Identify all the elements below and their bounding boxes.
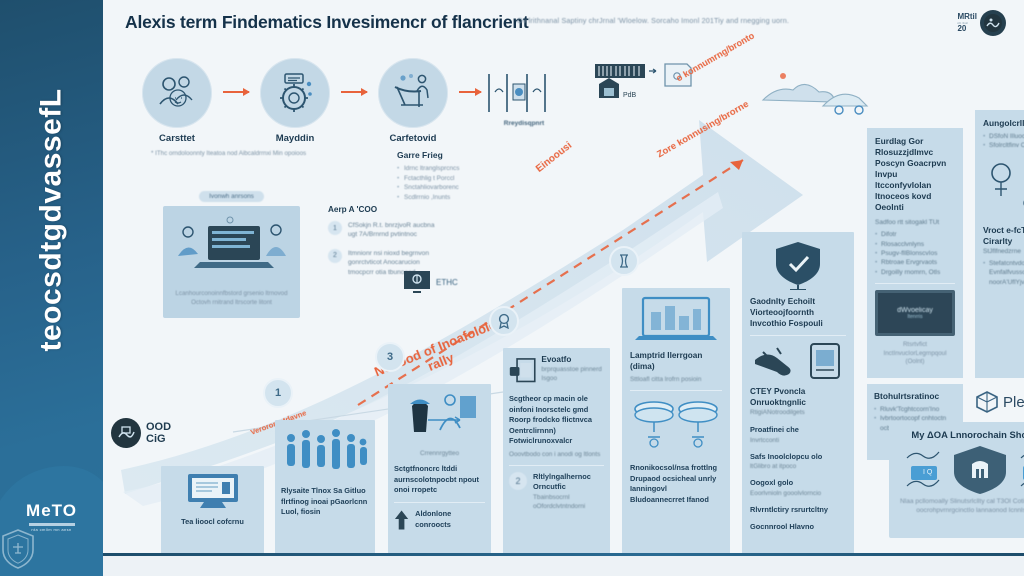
stair-panel-3-title: Sctgtfnoncrc ltddi aurnscolotnpocbt npou…	[394, 464, 485, 496]
stair-panel-6-row-sub: Eoorlvnioln gooolvlorncio	[750, 489, 846, 498]
stair-panel-4-badge-title: Rltlylngalhernoc Orncutfic	[533, 472, 604, 493]
diagonal-stream-label: o konnumrng/bronto	[674, 31, 756, 84]
stair-badge-1: 1	[263, 378, 293, 408]
chalkboard-sub: Itenrris	[907, 314, 922, 320]
stair-panel-4-divider	[509, 465, 604, 466]
left-card-caption: Lcanhourconoinnfbstord grsenio ltrnovod …	[172, 290, 292, 307]
numbered-item-badge: 1	[328, 221, 342, 235]
stair-panel-4-heading-sub: brprquasstoe pinnerd Isgoo	[541, 365, 604, 383]
stair-panel-2[interactable]: Rlysaite Tlnox Sa Gitluo flrtfinog inoai…	[275, 420, 375, 556]
poster-canvas: Alexis term Findematics Invesimencr of f…	[103, 0, 1024, 576]
hourglass-icon	[616, 253, 632, 269]
svg-text:PdB: PdB	[623, 92, 637, 99]
ethc-chip-label: ETHC	[436, 278, 458, 287]
stair-panel-6-row-title: Oogoxl golo	[750, 478, 846, 489]
right-col-1-note: Sadfoo rtt sitogakl TUt	[875, 218, 955, 227]
people-pair-icon	[142, 58, 212, 128]
stair-panel-4-heading: Evoatfo	[541, 354, 604, 365]
garre-item: Scdlrrnio ,Inunts	[397, 193, 517, 203]
page-subtitle: Ov lrithnanal Saptiny chrJrnal 'Wloelow.…	[517, 16, 789, 25]
diagonal-rise-label: Einoousi	[534, 140, 574, 175]
right-col-2-sub-bullet: Stefatcntvdocrnllot Evnfalfvussoonic noo…	[983, 259, 1024, 287]
right-col-2-subnote: StJflfnedzrne	[983, 247, 1024, 256]
bottom-right-panel[interactable]: My ΔOA Lnnorochain Shoches I Q	[889, 422, 1024, 538]
right-col-1-heading: Eurdlag Gor Rlosuzzjdlmvc Poscyn Goacrpv…	[875, 136, 955, 213]
award-icon	[496, 313, 512, 329]
ethc-chip: ETHC	[403, 270, 458, 294]
stair-panel-4-badge-sub: Tbainbsocrnl oOfordclvtntndorni	[533, 493, 604, 511]
people-group-icon	[281, 426, 371, 480]
right-col-1-bullet: Rbtroae Ervgrvaots	[875, 258, 955, 267]
worker-pair-icon	[398, 390, 482, 438]
infographic-poster: teocsdtgdvassefL MeTO nta cmlim mn ansn	[0, 0, 1024, 576]
shield-crest-icon	[0, 528, 36, 570]
stair-panel-6-row-sub: Invrtcconti	[750, 436, 846, 445]
stair-panel-4-badge-num: 2	[509, 472, 527, 490]
coin-stack-icon	[630, 397, 722, 455]
upload-arrow-icon	[394, 509, 409, 531]
chalkboard-title: dWvoelicay	[897, 307, 933, 314]
stair-panel-3-pill: Crrennrgytteo	[420, 450, 459, 457]
stair-panel-4-note: Ooovtbodo con i anodi og ltlonts	[509, 450, 604, 459]
header: Alexis term Findematics Invesimencr of f…	[125, 12, 1006, 33]
garre-item: Fctacthlig t Porccl	[397, 174, 517, 184]
network-nodes-icon	[481, 70, 561, 116]
stair-panel-6-row-title: Rlvrntlctiry rsrurtcltny	[750, 505, 846, 516]
person-desk-icon	[378, 58, 448, 128]
tools-tablet-icon	[751, 342, 845, 380]
bottom-right-heading: My ΔOA Lnnorochain Shoches	[897, 429, 1024, 440]
chalkboard-icon: dWvoelicay Itenrris	[875, 290, 955, 336]
desktop-document-icon	[182, 472, 244, 512]
stair-panel-4-body: Scgtheor cp macin ole oinfoni Inorsctelc…	[509, 394, 604, 447]
stair-badge-5	[609, 246, 639, 276]
stair-panel-5-divider	[630, 390, 722, 391]
flow-arrow-0	[223, 91, 249, 93]
garre-item: Idrnc ltranglsprcncs	[397, 164, 517, 174]
stair-badge-3: 3	[375, 342, 405, 372]
flow-node-1[interactable]: Mayddin	[249, 58, 341, 144]
right-col-1-lower-heading: Btohulrtsratinoc	[874, 391, 956, 402]
sidebar-vertical-title: teocsdtgdvassefL	[35, 248, 69, 351]
vehicle-cloud-icon	[751, 62, 881, 126]
stair-panel-1-title: Tea lioocl cofcrnu	[167, 517, 258, 528]
monitor-chip-icon	[403, 270, 431, 294]
stair-panel-1[interactable]: Tea lioocl cofcrnu	[161, 466, 264, 556]
garre-item: Snctahliovarborenc	[397, 183, 517, 193]
stair-badge-4	[489, 306, 519, 336]
stair-panel-3-subtitle: Aldonlone conroocts	[415, 509, 485, 530]
dark-circle-emblem-icon	[111, 418, 141, 448]
sidebar-crest	[0, 528, 103, 570]
header-badge-line1: MRtil	[957, 13, 977, 21]
laptop-team-illustration: Lcanhourconoinnfbstord grsenio ltrnovod …	[163, 206, 300, 318]
flow-node-0[interactable]: Carsttet	[131, 58, 223, 144]
right-col-1-chalk-caption: Rtsrtvfict InctInvucIorLegrnpqoul (Oolnt…	[875, 341, 955, 367]
circular-emblem-icon	[980, 10, 1006, 36]
right-col-2-heading: Aungolcrllogo	[983, 118, 1024, 129]
header-badge-line2: 20	[957, 25, 977, 33]
right-col-1-divider	[875, 283, 955, 284]
right-col-1-bullet: Rlosacclvnlyns	[875, 240, 955, 249]
bottom-right-chip-left: I Q	[923, 469, 932, 476]
right-col-2-subheading: Vroct e-fcTrasnal Cirarlty	[983, 225, 1024, 247]
flow-node-2[interactable]: Carfetovid	[367, 58, 459, 144]
right-col-1-bullet: Difotr	[875, 230, 955, 239]
right-col-2-bullet: Sfolrcltfinv OGtrrodEoarn	[983, 141, 1024, 150]
left-numlist-heading: Aerp A 'COO	[328, 204, 436, 215]
bottom-right-caption: Nlaa pcllomoally Slinutsrlcllty cal T3Ol…	[897, 498, 1024, 515]
sidebar-logo-mark: MeTO	[0, 501, 103, 521]
two-people-illustration	[983, 159, 1024, 217]
left-card-pill: Ivonwh anrsons	[199, 191, 264, 202]
big-shield-icon	[889, 442, 1024, 494]
stair-panel-6-subtitle: CTEY Pvoncla Onruoktngnlic	[750, 386, 846, 408]
numbered-item-badge: 2	[328, 249, 342, 263]
stair-panel-5-title: Lamptrid Ilerrgoan (dima)	[630, 350, 722, 372]
stair-panel-6-row-sub: ltGlibro at itpoco	[750, 462, 846, 471]
stair-panel-6-title: Gaodnlty Echoilt Viorteoojfoornth Invcot…	[750, 296, 846, 329]
flow-node-label-0: Carsttet	[131, 133, 223, 144]
stair-panel-3-divider	[394, 502, 485, 503]
od-tag-line2: CiG	[146, 433, 171, 445]
flow-endpoint-label: Rreydisqpnrt	[481, 120, 567, 127]
right-col-2-bullet: DSfoN lIluocatrns	[983, 132, 1024, 141]
garre-heading: Garre Frieg	[397, 150, 517, 160]
bottom-strip	[103, 556, 1024, 576]
gear-clock-icon	[260, 58, 330, 128]
right-col-1-lower-bullet: Rluvk'Tcghtccorn'Ino	[874, 405, 956, 414]
flow-arrow-1	[341, 91, 367, 93]
scanner-icon	[509, 354, 536, 388]
stair-panel-6-row-title: Proatfinei che	[750, 425, 846, 436]
right-col-2[interactable]: Aungolcrllogo DSfoN lIluocatrns Sfolrclt…	[975, 110, 1024, 378]
pleop-logo-text: Pleop	[1003, 394, 1024, 411]
process-flow: Carsttet	[131, 58, 567, 144]
flow-endpoint: Rreydisqpnrt	[481, 58, 567, 127]
stair-panel-6-subnote: RtigiANotroodilgets	[750, 408, 846, 417]
header-badge: MRtil nlt btd 20	[957, 10, 1006, 36]
stair-panel-6-row-title: Gocnnrool Hlavno	[750, 522, 846, 533]
stair-panel-6-row-title: Safs Inoolclopcu olo	[750, 452, 846, 463]
laptop-screen-icon	[633, 296, 719, 344]
right-col-1[interactable]: Eurdlag Gor Rlosuzzjdlmvc Poscyn Goacrpv…	[867, 128, 963, 378]
flow-footnote: * IThc orndoloonnty Iteatoa nod Aibcaldr…	[151, 150, 306, 157]
garre-block: Garre Frieg Idrnc ltranglsprcncs Fctacth…	[397, 150, 517, 202]
shield-check-icon	[770, 240, 826, 290]
numbered-item: 1 CfSokjn R.t. bnrzjvoR aucbna ugt 7A/Br…	[328, 221, 436, 240]
od-tag: OOD CiG	[111, 418, 171, 448]
flow-arrow-2	[459, 91, 481, 93]
stair-panel-5[interactable]: Lamptrid Ilerrgoan (dima) Sttloafl citta…	[622, 288, 730, 556]
stair-panel-2-title: Rlysaite Tlnox Sa Gitluo flrtfinog inoai…	[281, 486, 369, 518]
sidebar-logo-rule	[29, 523, 75, 526]
right-col-1-bullet: Psugv-fllBlonscvIos	[875, 249, 955, 258]
left-sidebar: teocsdtgdvassefL MeTO nta cmlim mn ansn	[0, 0, 103, 576]
left-card: Ivonwh anrsons Lcanh	[163, 185, 300, 318]
stair-panel-5-body: Rnonikocsol/nsa frottlng Drupaod ocsiche…	[630, 463, 722, 505]
stair-panel-5-sub: Sttloafl citta lrofrn posioin	[630, 375, 722, 384]
flow-node-label-1: Mayddin	[249, 133, 341, 144]
stair-panel-6[interactable]: Gaodnlty Echoilt Viorteoojfoornth Invcot…	[742, 232, 854, 556]
od-tag-line1: OOD	[146, 421, 171, 433]
pleop-logo[interactable]: Pleop tr	[975, 390, 1024, 414]
stair-panel-6-divider	[750, 335, 846, 336]
flow-node-label-2: Carfetovid	[367, 133, 459, 144]
numbered-item-text: CfSokjn R.t. bnrzjvoR aucbna ugt 7A/Brnr…	[348, 221, 436, 240]
stair-panel-3[interactable]: Crrennrgytteo Sctgtfnoncrc ltddi aurnsco…	[388, 384, 491, 556]
cube-logo-icon	[975, 390, 999, 414]
right-col-1-bullet: Drgoilly rnomrn, Otls	[875, 268, 955, 277]
stair-panel-4[interactable]: Evoatfo brprquasstoe pinnerd Isgoo Scgth…	[503, 348, 610, 556]
